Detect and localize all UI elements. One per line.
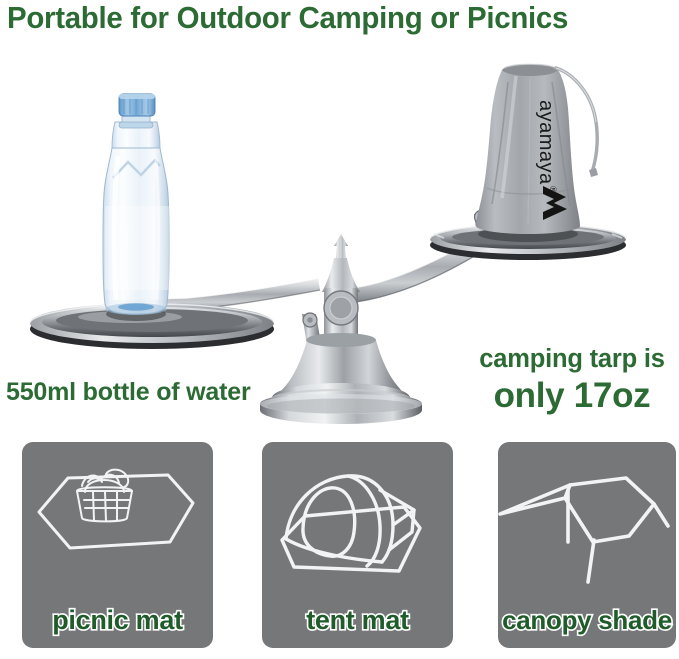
canopy-shade-icon (498, 442, 676, 600)
use-case-cards: picnic mat tent mat (0, 442, 679, 649)
card-picnic-mat[interactable]: picnic mat (22, 442, 213, 648)
card-canopy-shade[interactable]: canopy shade (498, 442, 676, 648)
page-title: Portable for Outdoor Camping or Picnics (7, 0, 649, 38)
card-tent-mat[interactable]: tent mat (262, 442, 453, 648)
balance-scale-illustration: ayamaya ® 550ml bottle of water camping … (0, 38, 679, 428)
left-caption: 550ml bottle of water (6, 377, 250, 407)
camping-tarp-stuff-sack: ayamaya ® (476, 64, 598, 242)
card-label-tent-mat: tent mat (262, 604, 453, 636)
right-caption: camping tarp is only 17oz (472, 344, 672, 417)
right-caption-line1: camping tarp is (472, 344, 672, 375)
scale-pivot-and-pointer (260, 234, 422, 424)
tent-mat-icon (262, 442, 453, 600)
right-caption-line2: only 17oz (472, 375, 672, 417)
sack-brand-text: ayamaya ® (535, 100, 558, 193)
card-label-canopy-shade: canopy shade (498, 604, 676, 636)
svg-text:ayamaya: ayamaya (535, 100, 557, 185)
water-bottle (103, 94, 169, 321)
picnic-mat-icon (22, 442, 213, 600)
card-label-picnic-mat: picnic mat (22, 604, 213, 636)
